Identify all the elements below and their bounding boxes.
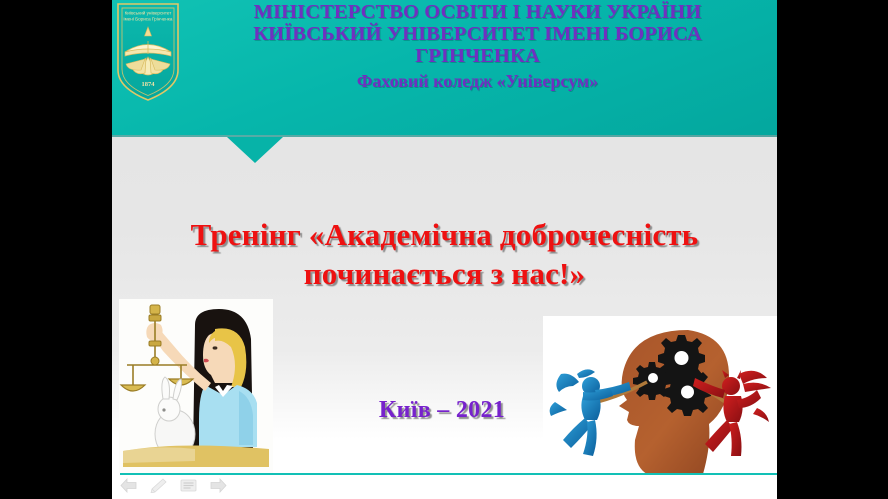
college-line: Фаховий коледж «Універсум» bbox=[190, 72, 765, 91]
city-year-label: Київ – 2021 bbox=[342, 397, 542, 424]
university-line-1: КИЇВСЬКИЙ УНІВЕРСИТЕТ ІМЕНІ БОРИСА bbox=[190, 23, 765, 45]
arrow-left-icon[interactable] bbox=[120, 478, 137, 493]
slide-canvas: Київський університет імені Бориса Грінч… bbox=[112, 0, 777, 499]
university-line-2: ГРІНЧЕНКА bbox=[190, 45, 765, 67]
svg-text:імені Бориса Грінченка: імені Бориса Грінченка bbox=[124, 17, 173, 22]
header-text-block: МІНІСТЕРСТВО ОСВІТИ І НАУКИ УКРАЇНИ КИЇВ… bbox=[190, 0, 765, 92]
menu-icon[interactable] bbox=[180, 478, 197, 493]
pen-icon[interactable] bbox=[150, 478, 167, 493]
arrow-right-icon[interactable] bbox=[210, 478, 227, 493]
illustration-scales-of-justice bbox=[119, 299, 273, 473]
university-logo: Київський університет імені Бориса Грінч… bbox=[112, 0, 184, 104]
slide-title-line-2: починається з нас!» bbox=[132, 254, 757, 293]
ministry-line: МІНІСТЕРСТВО ОСВІТИ І НАУКИ УКРАЇНИ bbox=[190, 1, 765, 23]
svg-text:1874: 1874 bbox=[142, 81, 156, 88]
slideshow-toolbar bbox=[120, 478, 227, 493]
slide-title: Тренінг «Академічна доброчесність почина… bbox=[132, 215, 757, 293]
svg-text:Київський університет: Київський університет bbox=[125, 10, 173, 16]
slide-title-line-1: Тренінг «Академічна доброчесність bbox=[132, 215, 757, 254]
bottom-divider bbox=[120, 473, 777, 475]
illustration-head-with-gears bbox=[543, 316, 777, 474]
presentation-viewer: Київський університет імені Бориса Грінч… bbox=[0, 0, 888, 499]
header-notch-triangle bbox=[227, 137, 283, 163]
